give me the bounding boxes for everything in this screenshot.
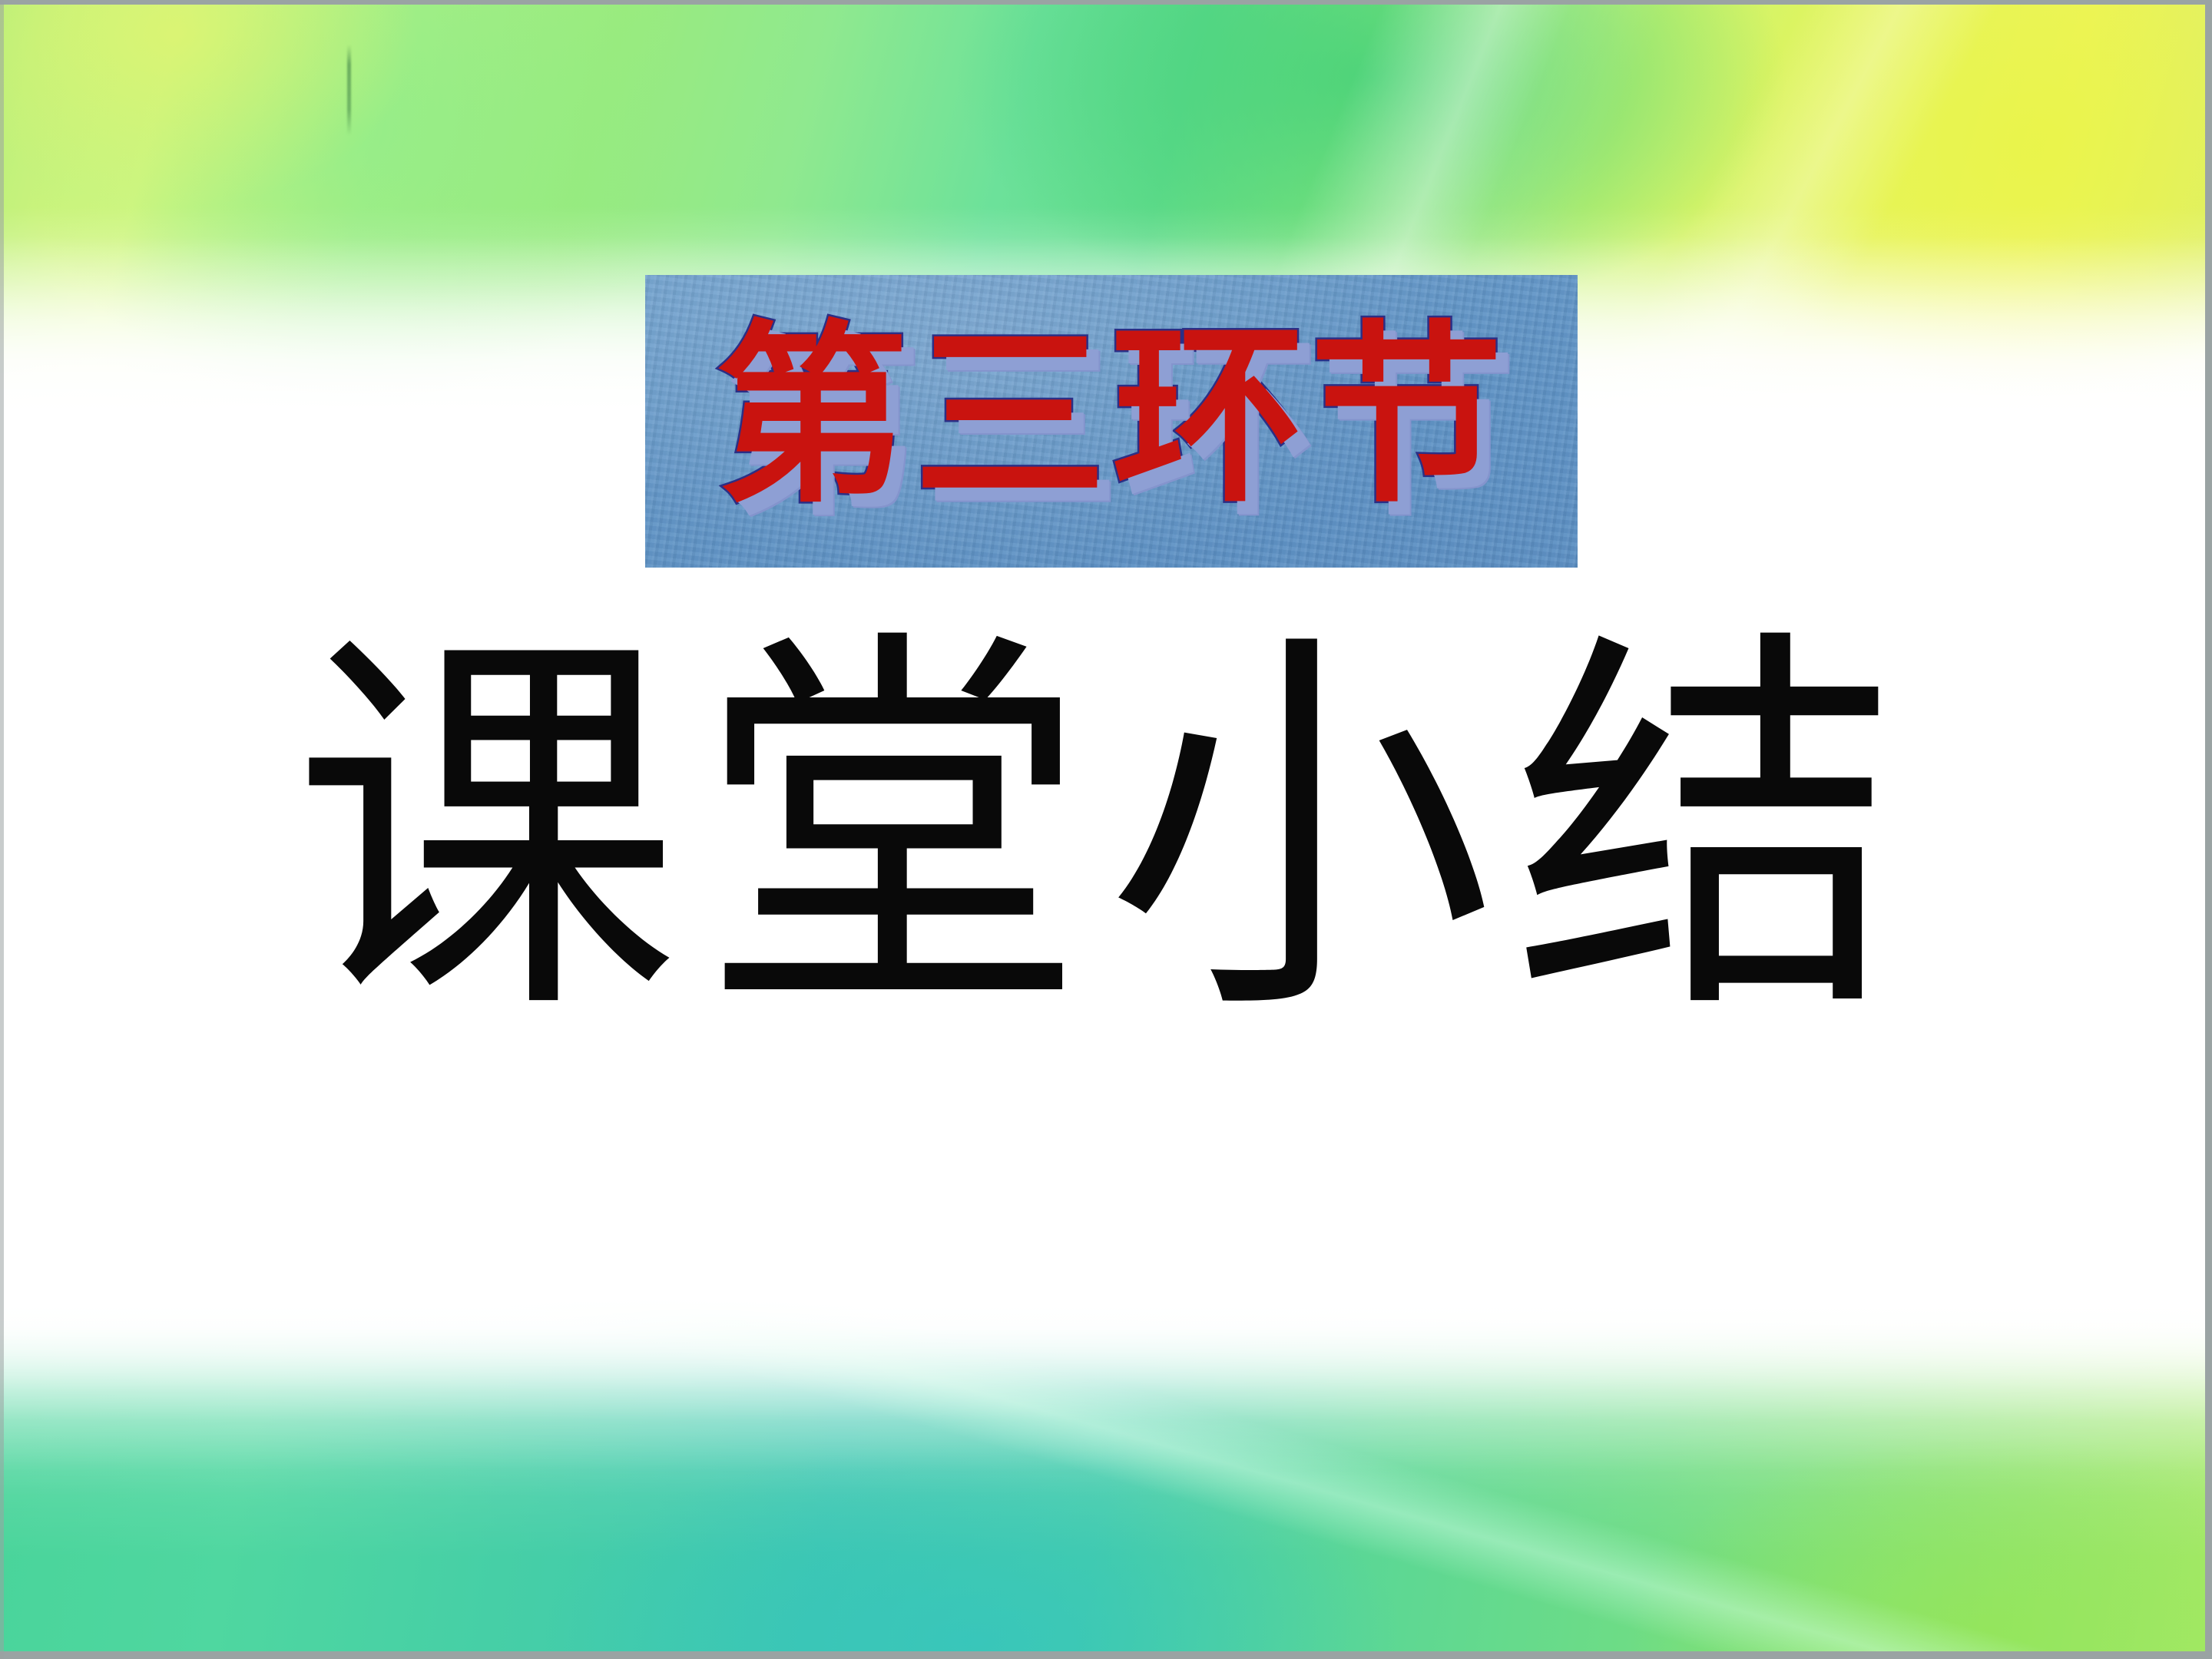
page-title: 课堂小结 [293,607,1919,1054]
presentation-slide: 第三环节 课堂小结 [0,0,2212,1659]
section-heading-text: 第三环节 [715,320,1508,514]
section-heading-plate: 第三环节 [645,275,1578,568]
main-title-block: 课堂小结 [0,607,2212,1054]
bottom-band-white-fade [0,1298,2212,1659]
bottom-decorative-band [0,1298,2212,1659]
